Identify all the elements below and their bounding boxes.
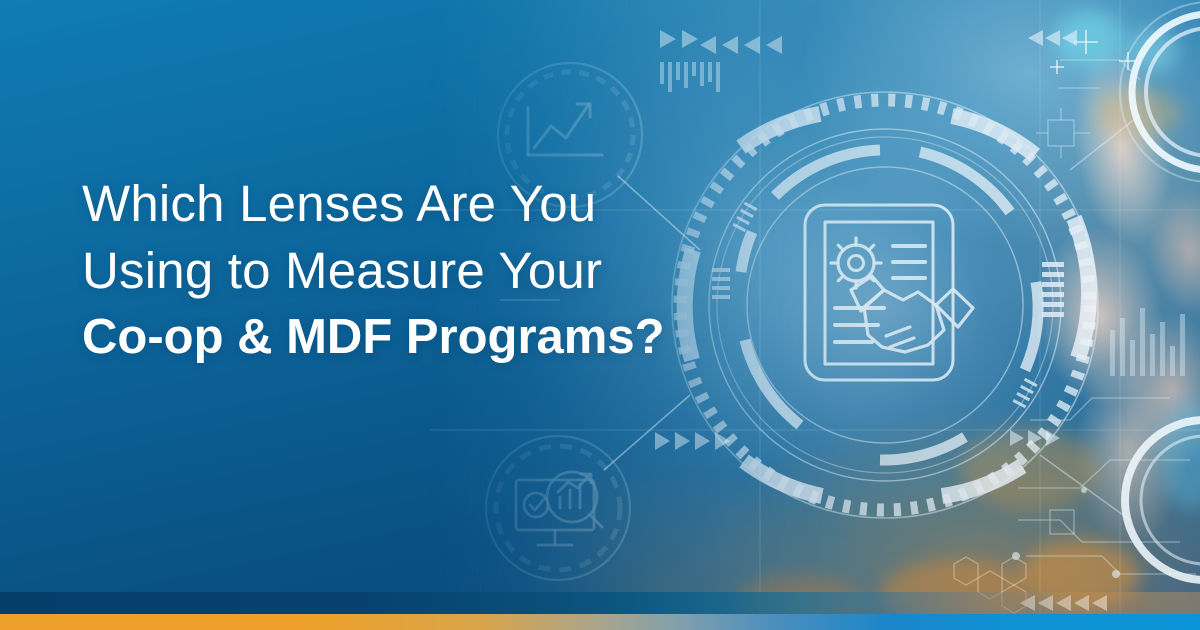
promo-banner: Which Lenses Are You Using to Measure Yo… — [0, 0, 1200, 630]
headline-line-1: Which Lenses Are You — [82, 170, 782, 237]
bottom-dark-strip — [0, 592, 1200, 614]
headline-line-3: Co-op & MDF Programs? — [82, 304, 782, 371]
bokeh-highlight — [960, 430, 1100, 510]
bokeh-highlight — [1126, 28, 1178, 74]
gradient-accent-bar — [0, 614, 1200, 630]
headline-line-2: Using to Measure Your — [82, 237, 782, 304]
bokeh-highlight — [1055, 10, 1125, 68]
page-title: Which Lenses Are You Using to Measure Yo… — [82, 170, 782, 371]
bokeh-highlight — [1095, 88, 1181, 138]
